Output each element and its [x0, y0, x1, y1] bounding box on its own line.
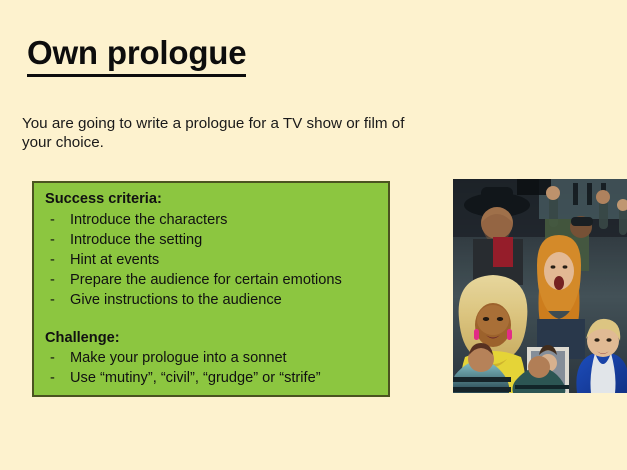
bullet-dash: -: [42, 348, 70, 368]
list-item-label: Introduce the setting: [70, 230, 380, 250]
slide-canvas: Own prologue You are going to write a pr…: [0, 0, 627, 470]
challenge-heading: Challenge:: [45, 329, 380, 349]
bullet-dash: -: [42, 368, 70, 388]
list-spacer: [42, 311, 380, 329]
challenge-list: - Make your prologue into a sonnet - Use…: [42, 348, 380, 388]
list-item: - Introduce the characters: [42, 210, 380, 230]
success-criteria-box: Success criteria: - Introduce the charac…: [32, 181, 390, 397]
bullet-dash: -: [42, 250, 70, 270]
bullet-dash: -: [42, 210, 70, 230]
collage-photo-graphic: [453, 179, 627, 393]
page-title: Own prologue: [27, 36, 246, 77]
intro-paragraph: You are going to write a prologue for a …: [22, 114, 432, 152]
bullet-dash: -: [42, 230, 70, 250]
list-item: - Make your prologue into a sonnet: [42, 348, 380, 368]
list-item: - Hint at events: [42, 250, 380, 270]
success-criteria-heading: Success criteria:: [45, 190, 380, 210]
list-item-label: Make your prologue into a sonnet: [70, 348, 380, 368]
list-item: - Use “mutiny”, “civil”, “grudge” or “st…: [42, 368, 380, 388]
list-item: - Give instructions to the audience: [42, 290, 380, 310]
list-item-label: Give instructions to the audience: [70, 290, 380, 310]
success-criteria-list: - Introduce the characters - Introduce t…: [42, 210, 380, 311]
list-item-label: Prepare the audience for certain emotion…: [70, 270, 380, 290]
list-item-label: Hint at events: [70, 250, 380, 270]
collage-photo: [453, 179, 627, 393]
bullet-dash: -: [42, 290, 70, 310]
list-item-label: Introduce the characters: [70, 210, 380, 230]
bullet-dash: -: [42, 270, 70, 290]
list-item: - Introduce the setting: [42, 230, 380, 250]
list-item-label: Use “mutiny”, “civil”, “grudge” or “stri…: [70, 368, 380, 388]
list-item: - Prepare the audience for certain emoti…: [42, 270, 380, 290]
